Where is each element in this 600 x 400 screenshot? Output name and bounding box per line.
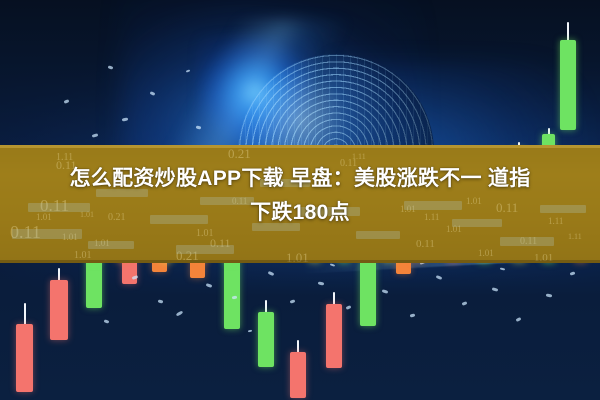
speckle: [516, 317, 522, 322]
speckle: [150, 91, 156, 96]
ticker-bar: [500, 237, 554, 246]
ticker-bar: [12, 229, 82, 239]
band-bottom-edge: [0, 260, 600, 263]
speckle: [330, 263, 335, 267]
speckle: [318, 281, 324, 285]
ticker-bar: [356, 231, 400, 239]
speckle: [290, 299, 296, 303]
speckle: [92, 133, 99, 138]
speckle: [108, 65, 114, 69]
speckle: [122, 117, 128, 121]
speckle: [382, 289, 389, 294]
band-top-edge: [0, 145, 600, 148]
speckle: [546, 294, 552, 298]
ticker-bar: [88, 241, 134, 249]
speckle: [232, 296, 237, 300]
speckle: [158, 299, 164, 303]
headline-line-2: 下跌180点: [0, 196, 600, 230]
speckle: [570, 271, 576, 275]
speckle: [500, 267, 505, 270]
speckle: [346, 305, 352, 310]
headline-text: 怎么配资炒股APP下载 早盘：美股涨跌不一 道指 下跌180点: [0, 162, 600, 230]
speckle: [462, 301, 468, 306]
speckle: [410, 313, 416, 317]
speckle: [436, 275, 443, 280]
ticker-bar: [176, 245, 234, 254]
speckle: [248, 330, 252, 333]
speckle: [492, 287, 499, 292]
candlestick: [560, 22, 576, 130]
speckle: [132, 275, 139, 280]
speckle: [104, 319, 110, 323]
speckle: [268, 271, 275, 276]
speckle: [206, 283, 213, 288]
speckle: [196, 125, 202, 129]
speckle: [186, 69, 190, 72]
candle-body: [560, 40, 576, 130]
speckle: [64, 99, 70, 104]
speckle: [176, 310, 184, 316]
news-banner-image: 0.110.111.011.011.011.011.110.110.211.01…: [0, 0, 600, 400]
headline-line-1: 怎么配资炒股APP下载 早盘：美股涨跌不一 道指: [0, 162, 600, 196]
